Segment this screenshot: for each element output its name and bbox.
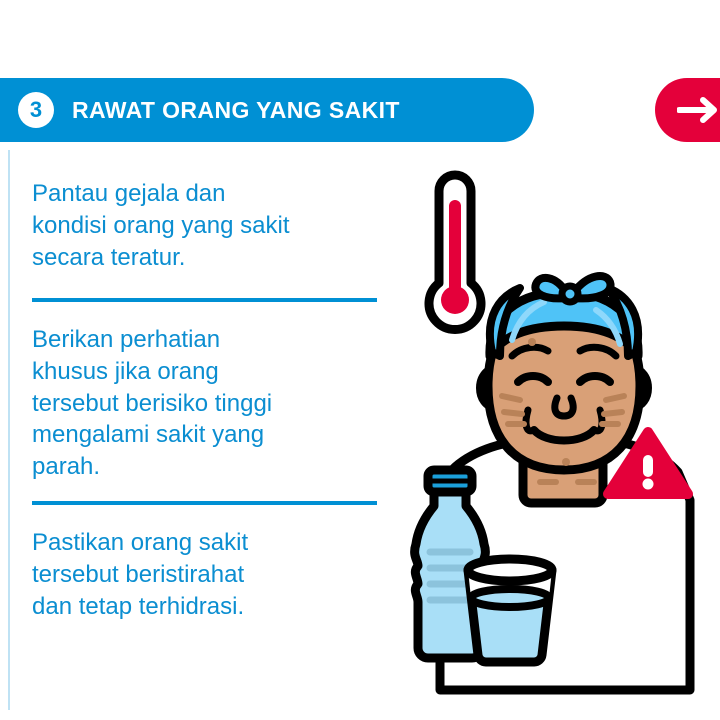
step-header-banner: 3 RAWAT ORANG YANG SAKIT — [0, 78, 534, 142]
thermometer-icon — [429, 175, 481, 329]
paragraph-high-risk: Berikan perhatian khusus jika orang ters… — [32, 324, 377, 484]
divider-1 — [32, 298, 377, 302]
step-number-badge: 3 — [18, 92, 54, 128]
content-text-column: Pantau gejala dan kondisi orang yang sak… — [32, 178, 377, 623]
warning-triangle-icon — [608, 432, 688, 494]
page-title: RAWAT ORANG YANG SAKIT — [72, 97, 400, 124]
arrow-right-icon — [677, 95, 720, 125]
water-glass-illustration — [468, 559, 552, 662]
water-bottle-illustration — [415, 470, 486, 658]
paragraph-rest-hydrate: Pastikan orang sakit tersebut beristirah… — [32, 527, 377, 623]
next-button[interactable] — [655, 78, 720, 142]
paragraph-monitor-symptoms: Pantau gejala dan kondisi orang yang sak… — [32, 178, 377, 274]
divider-2 — [32, 501, 377, 505]
elderly-woman-illustration — [440, 276, 690, 690]
infographic-canvas: 3 RAWAT ORANG YANG SAKIT Pantau gejala d… — [0, 0, 720, 720]
left-vertical-rule — [8, 150, 10, 710]
